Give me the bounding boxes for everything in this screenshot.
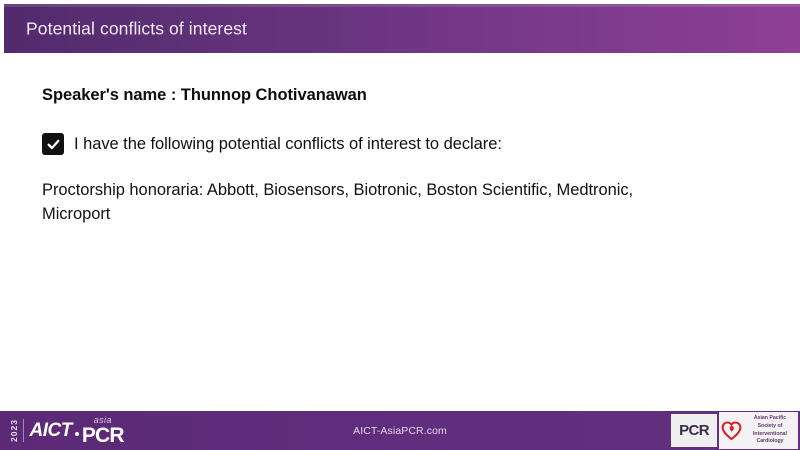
page-title: Potential conflicts of interest bbox=[26, 18, 247, 39]
slide-footer-bar: 2023 AICT asia PCR AICT-AsiaPCR.com PCR … bbox=[0, 411, 800, 450]
declaration-label: I have the following potential conflicts… bbox=[74, 135, 502, 154]
slide-canvas: Potential conflicts of interest Speaker'… bbox=[0, 0, 800, 450]
pcr-logo-label: PCR bbox=[679, 422, 709, 439]
title-bar-sheen bbox=[4, 4, 800, 7]
apsic-line-3: Interventional bbox=[744, 431, 796, 439]
disclosure-body-text: Proctorship honoraria: Abbott, Biosensor… bbox=[42, 179, 702, 227]
speaker-name-line: Speaker's name : Thunnop Chotivanawan bbox=[42, 86, 367, 105]
apsic-line-1: Asian Pacific bbox=[744, 415, 796, 423]
apsic-line-4: Cardiology bbox=[744, 438, 796, 446]
check-icon bbox=[46, 137, 61, 152]
apsic-logo-text: Asian Pacific Society of Interventional … bbox=[744, 415, 796, 445]
heart-icon bbox=[721, 420, 742, 441]
apsic-line-2: Society of bbox=[744, 423, 796, 431]
declaration-row: I have the following potential conflicts… bbox=[42, 133, 502, 155]
slide-title-bar: Potential conflicts of interest bbox=[4, 4, 800, 53]
pcr-logo-box: PCR bbox=[671, 414, 717, 447]
apsic-logo-box: Asian Pacific Society of Interventional … bbox=[719, 412, 798, 449]
declaration-checkbox[interactable] bbox=[42, 133, 64, 155]
footer-sponsor-logos: PCR Asian Pacific Society of Interventio… bbox=[671, 411, 798, 450]
